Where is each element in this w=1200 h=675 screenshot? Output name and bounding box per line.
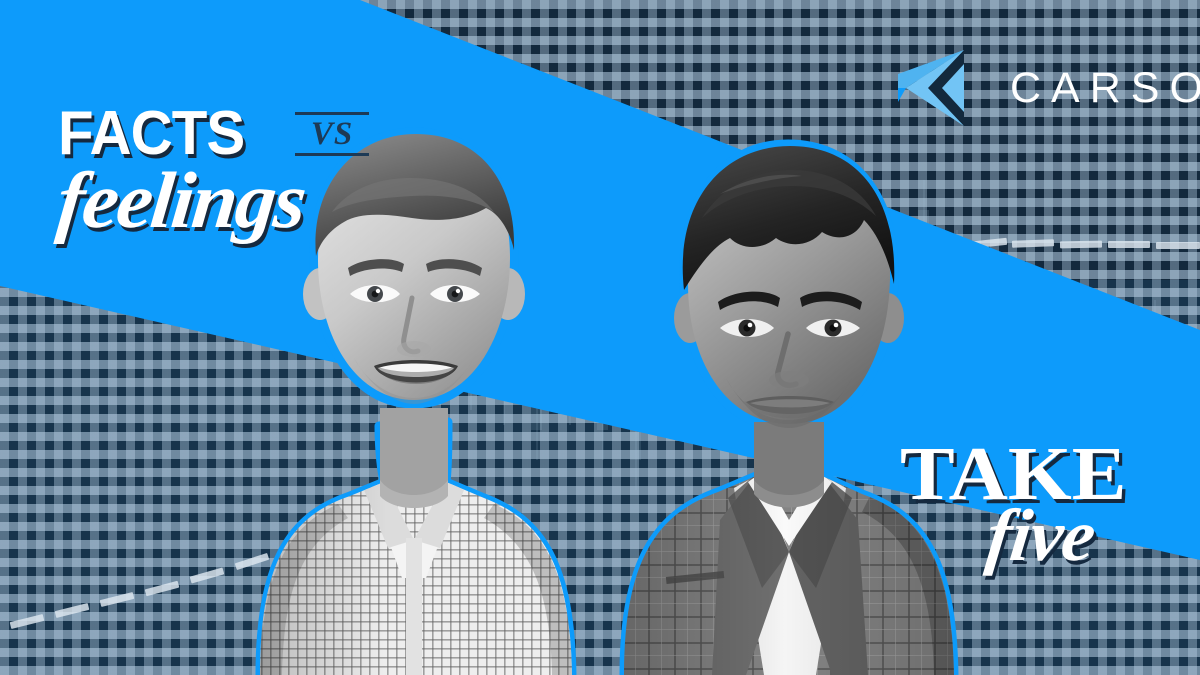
five-wordmark: five <box>982 497 1098 575</box>
podcast-cover-art: FACTS VS feelings TAKE five CARSON <box>0 0 1200 675</box>
facts-wordmark: FACTS <box>58 104 244 164</box>
carson-logo: CARSON <box>898 50 1200 126</box>
feelings-wordmark: feelings <box>53 160 308 242</box>
facts-vs-feelings-logo: FACTS VS feelings <box>58 104 378 254</box>
vs-badge: VS <box>295 112 369 156</box>
carson-chevron-icon <box>898 50 964 126</box>
vs-label: VS <box>295 115 369 153</box>
host-two-portrait <box>570 122 1000 675</box>
vs-rule-bottom <box>295 153 369 156</box>
take-five-logo: TAKE five <box>900 437 1170 577</box>
carson-wordmark: CARSON <box>1010 67 1200 110</box>
